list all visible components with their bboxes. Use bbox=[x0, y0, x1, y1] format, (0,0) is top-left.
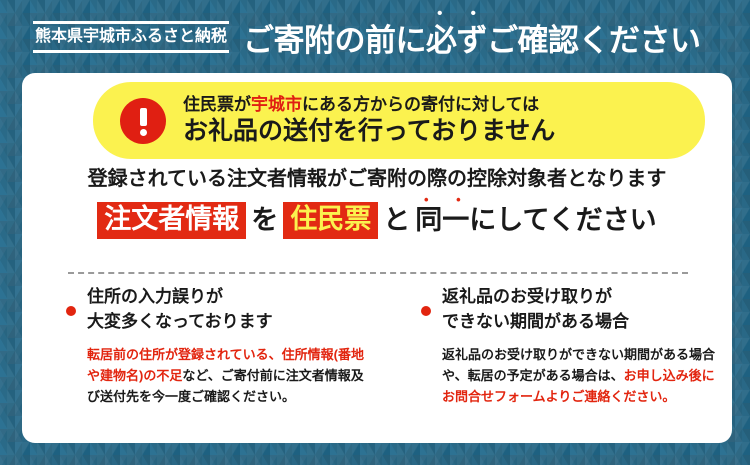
column-heading-text: 返礼品のお受け取りが できない期間がある場合 bbox=[442, 285, 629, 334]
alert-banner: 住民票が宇城市にある方からの寄付に対しては お礼品の送付を行っておりません bbox=[93, 82, 705, 159]
chip-residence-certificate: 住民票 bbox=[283, 202, 378, 239]
heading-line-2: できない期間がある場合 bbox=[442, 312, 629, 331]
alert-line1-highlight: 宇城市 bbox=[251, 95, 302, 114]
column-body: 転居前の住所が登録されている、住所情報(番地や建物名)の不足など、ご寄付前に注文… bbox=[87, 344, 367, 407]
alert-line1-post: にある方からの寄付に対しては bbox=[302, 95, 539, 114]
exclamation-icon bbox=[120, 98, 166, 144]
info-column-delivery: 返礼品のお受け取りが できない期間がある場合 返礼品のお受け取りができない期間が… bbox=[377, 285, 732, 407]
heading-line-1: 住所の入力誤りが bbox=[87, 287, 223, 306]
bullet-dot-icon bbox=[421, 306, 431, 316]
heading-line-2: 大変多くなっております bbox=[87, 312, 273, 331]
page-title: ご寄附の前に必ずご確認ください bbox=[243, 18, 701, 56]
title-text-pre: ご寄附の前に bbox=[243, 23, 426, 58]
notice-tail-post: にしてください bbox=[469, 207, 656, 234]
alert-line1-pre: 住民票が bbox=[183, 95, 251, 114]
notice-block: 登録されている注文者情報がご寄附の際の控除対象者となります 注文者情報 を 住民… bbox=[22, 169, 732, 239]
chip-orderer-info: 注文者情報 bbox=[97, 202, 246, 239]
bullet-dot-icon bbox=[66, 306, 76, 316]
title-text-post: ご確認ください bbox=[487, 23, 701, 58]
column-body: 返礼品のお受け取りができない期間がある場合や、転居の予定がある場合は、お申し込み… bbox=[442, 344, 722, 407]
notice-line-2: 注文者情報 を 住民票 と同一にしてください bbox=[22, 202, 732, 239]
exclamation-bar bbox=[140, 108, 147, 126]
alert-line-2: お礼品の送付を行っておりません bbox=[183, 117, 555, 146]
info-column-address: 住所の入力誤りが 大変多くなっております 転居前の住所が登録されている、住所情報… bbox=[22, 285, 377, 407]
notice-connector: を bbox=[246, 207, 283, 234]
banner-header: 熊本県宇城市ふるさと納税 ご寄附の前に必ずご確認ください bbox=[0, 0, 750, 73]
content-card: 住民票が宇城市にある方からの寄付に対しては お礼品の送付を行っておりません 登録… bbox=[22, 73, 732, 443]
column-heading: 住所の入力誤りが 大変多くなっております bbox=[66, 285, 367, 334]
section-divider bbox=[68, 272, 688, 274]
column-heading-text: 住所の入力誤りが 大変多くなっております bbox=[87, 285, 273, 334]
notice-tail-emphasis: 同一 bbox=[415, 207, 469, 234]
brand-block: 熊本県宇城市ふるさと納税 bbox=[33, 21, 229, 53]
heading-line-1: 返礼品のお受け取りが bbox=[442, 287, 612, 306]
notice-line-1: 登録されている注文者情報がご寄附の際の控除対象者となります bbox=[22, 169, 732, 189]
column-heading: 返礼品のお受け取りが できない期間がある場合 bbox=[421, 285, 722, 334]
alert-line-1: 住民票が宇城市にある方からの寄付に対しては bbox=[183, 95, 555, 115]
exclamation-dot bbox=[140, 129, 147, 136]
alert-text-block: 住民票が宇城市にある方からの寄付に対しては お礼品の送付を行っておりません bbox=[183, 95, 555, 145]
info-columns: 住所の入力誤りが 大変多くなっております 転居前の住所が登録されている、住所情報… bbox=[22, 285, 732, 407]
brand-rule-bottom bbox=[33, 50, 229, 53]
title-text-emphasis: 必ず bbox=[426, 23, 487, 58]
brand-label: 熊本県宇城市ふるさと納税 bbox=[33, 24, 229, 50]
notice-tail-pre: と bbox=[378, 207, 415, 234]
